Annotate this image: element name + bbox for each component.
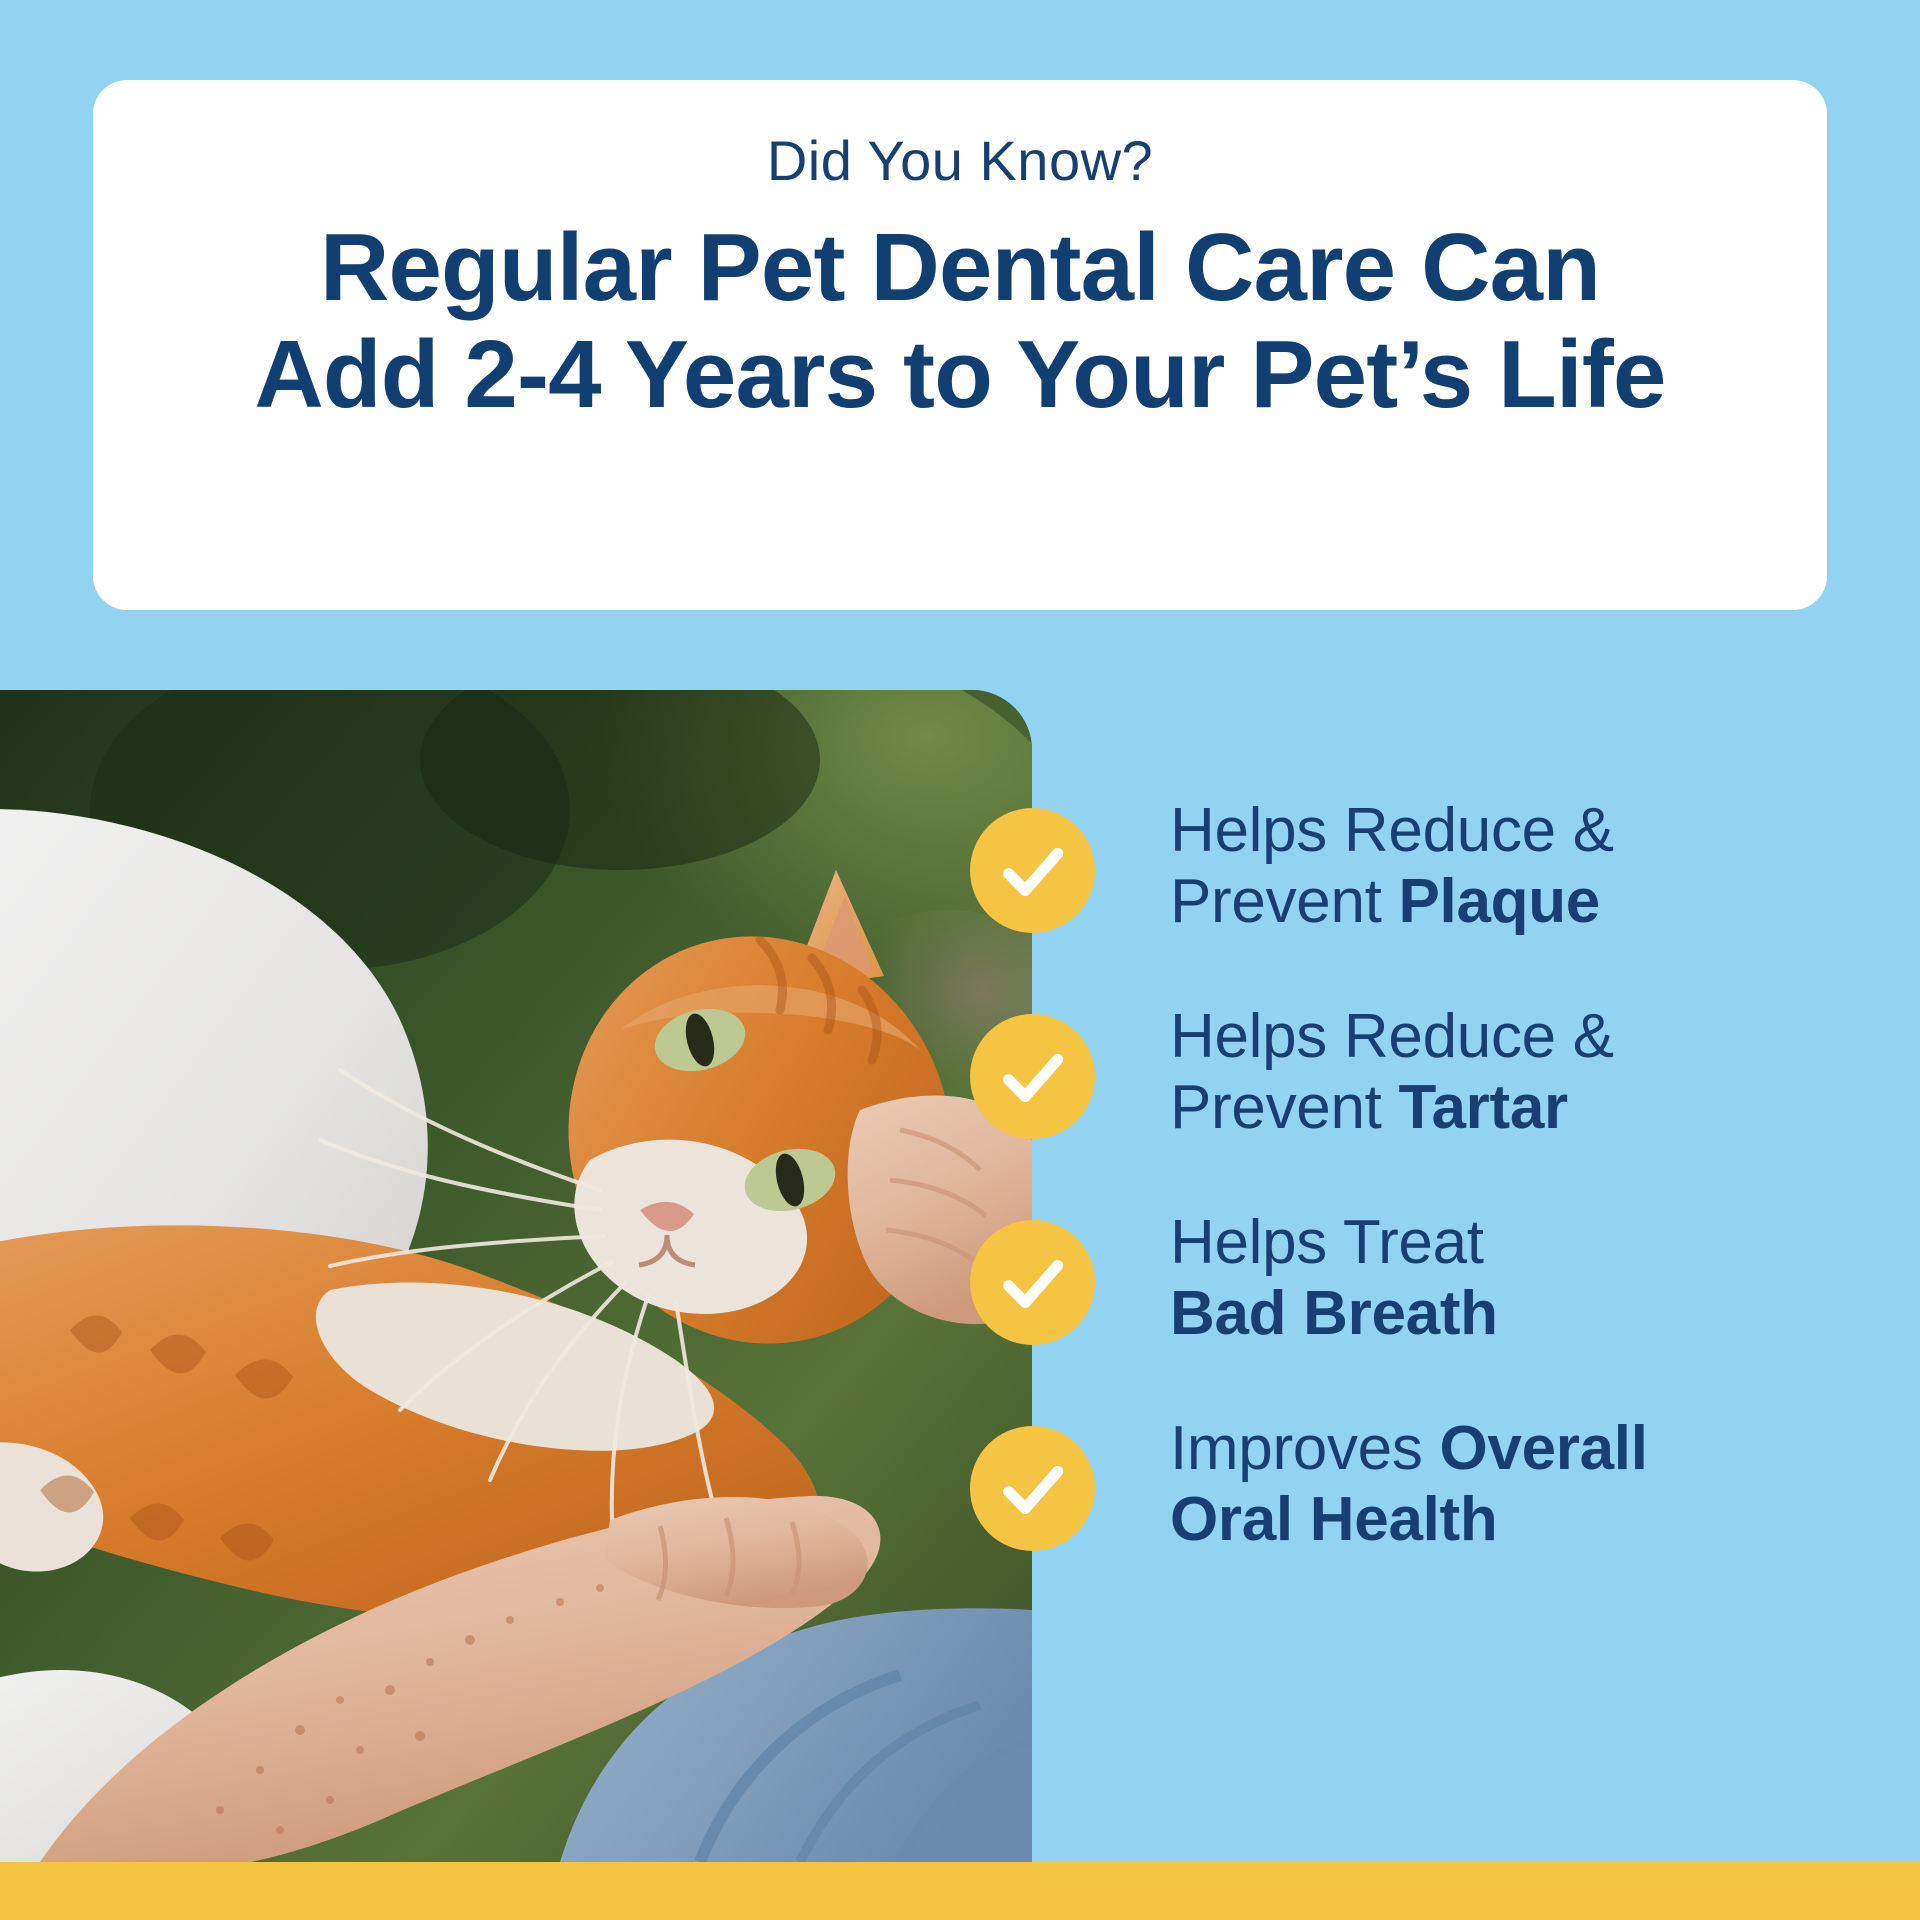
- benefit-text: Helps Reduce & Prevent Plaque: [1170, 790, 1850, 937]
- poster-canvas: Did You Know? Regular Pet Dental Care Ca…: [0, 0, 1920, 1920]
- benefit-line-2-plain: Prevent: [1170, 867, 1399, 936]
- check-icon: [970, 1220, 1095, 1345]
- benefit-line-2: Oral Health: [1170, 1485, 1850, 1556]
- list-item: Helps Reduce & Prevent Plaque: [970, 790, 1850, 996]
- benefits-list: Helps Reduce & Prevent Plaque Helps Redu…: [970, 790, 1850, 1614]
- benefit-line-2-bold: Plaque: [1399, 867, 1601, 936]
- check-icon: [970, 1426, 1095, 1551]
- bottom-accent-bar: [0, 1862, 1920, 1920]
- benefit-line-2: Prevent Tartar: [1170, 1073, 1850, 1144]
- list-item: Helps Treat Bad Breath: [970, 1202, 1850, 1408]
- benefit-line-2-plain: Prevent: [1170, 1073, 1399, 1142]
- check-icon: [970, 808, 1095, 933]
- benefit-line-1: Improves Overall: [1170, 1414, 1850, 1485]
- benefit-text: Improves Overall Oral Health: [1170, 1408, 1850, 1555]
- check-icon: [970, 1014, 1095, 1139]
- benefit-line-2: Prevent Plaque: [1170, 867, 1850, 938]
- headline-line-2: Add 2-4 Years to Your Pet’s Life: [153, 321, 1767, 429]
- benefit-line-1-bold: Overall: [1440, 1414, 1648, 1483]
- list-item: Improves Overall Oral Health: [970, 1408, 1850, 1614]
- benefit-line-2: Bad Breath: [1170, 1279, 1850, 1350]
- benefit-line-1: Helps Reduce &: [1170, 796, 1850, 867]
- cat-photo-illustration: [0, 690, 1032, 1862]
- headline-line-1: Regular Pet Dental Care Can: [153, 214, 1767, 322]
- benefit-line-2-bold: Oral Health: [1170, 1485, 1497, 1554]
- list-item: Helps Reduce & Prevent Tartar: [970, 996, 1850, 1202]
- benefit-text: Helps Treat Bad Breath: [1170, 1202, 1850, 1349]
- page-title: Regular Pet Dental Care Can Add 2-4 Year…: [153, 214, 1767, 429]
- cat-photo: [0, 690, 1032, 1862]
- eyebrow-text: Did You Know?: [153, 130, 1767, 192]
- benefit-line-2-bold: Tartar: [1399, 1073, 1568, 1142]
- benefit-line-2-bold: Bad Breath: [1170, 1279, 1498, 1348]
- benefit-text: Helps Reduce & Prevent Tartar: [1170, 996, 1850, 1143]
- headline-card: Did You Know? Regular Pet Dental Care Ca…: [93, 80, 1827, 610]
- benefit-line-1-plain: Improves: [1170, 1414, 1440, 1483]
- benefit-line-1: Helps Treat: [1170, 1208, 1850, 1279]
- benefit-line-1: Helps Reduce &: [1170, 1002, 1850, 1073]
